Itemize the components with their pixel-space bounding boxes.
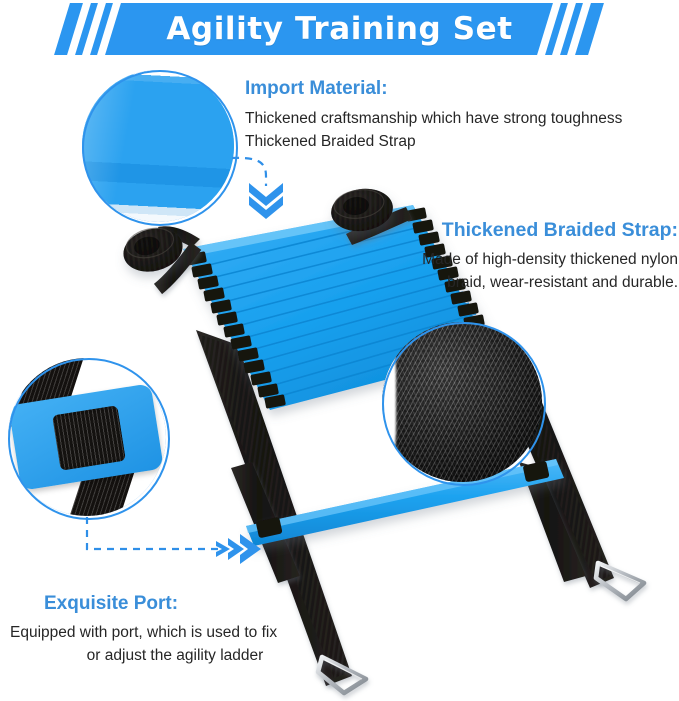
callout-braided-strap: Thickened Braided Strap: Made of high-de…: [410, 218, 678, 294]
callout-braided-strap-line-2: braid, wear-resistant and durable.: [410, 271, 678, 294]
callout-import-material-heading: Import Material:: [245, 77, 622, 101]
double-chevron-down-icon: [249, 183, 283, 219]
callout-exquisite-port-line-2: or adjust the agility ladder: [10, 644, 340, 667]
callout-exquisite-port: Exquisite Port: Equipped with port, whic…: [10, 592, 340, 667]
double-chevron-right-icon: [216, 534, 261, 564]
callout-exquisite-port-line-1: Equipped with port, which is used to fix: [10, 621, 340, 644]
infographic-canvas: Agility Training Set: [0, 0, 679, 701]
callout-import-material: Import Material: Thickened craftsmanship…: [245, 77, 622, 153]
callout-exquisite-port-heading: Exquisite Port:: [44, 592, 340, 616]
callout-import-material-line-2: Thickened Braided Strap: [245, 130, 622, 153]
connector-port-to-rung: [87, 517, 218, 549]
callout-import-material-line-1: Thickened craftsmanship which have stron…: [245, 107, 622, 130]
callout-braided-strap-heading: Thickened Braided Strap:: [410, 218, 678, 242]
callout-braided-strap-line-1: Made of high-density thickened nylon: [410, 248, 678, 271]
connector-material-to-ladder: [232, 158, 266, 186]
